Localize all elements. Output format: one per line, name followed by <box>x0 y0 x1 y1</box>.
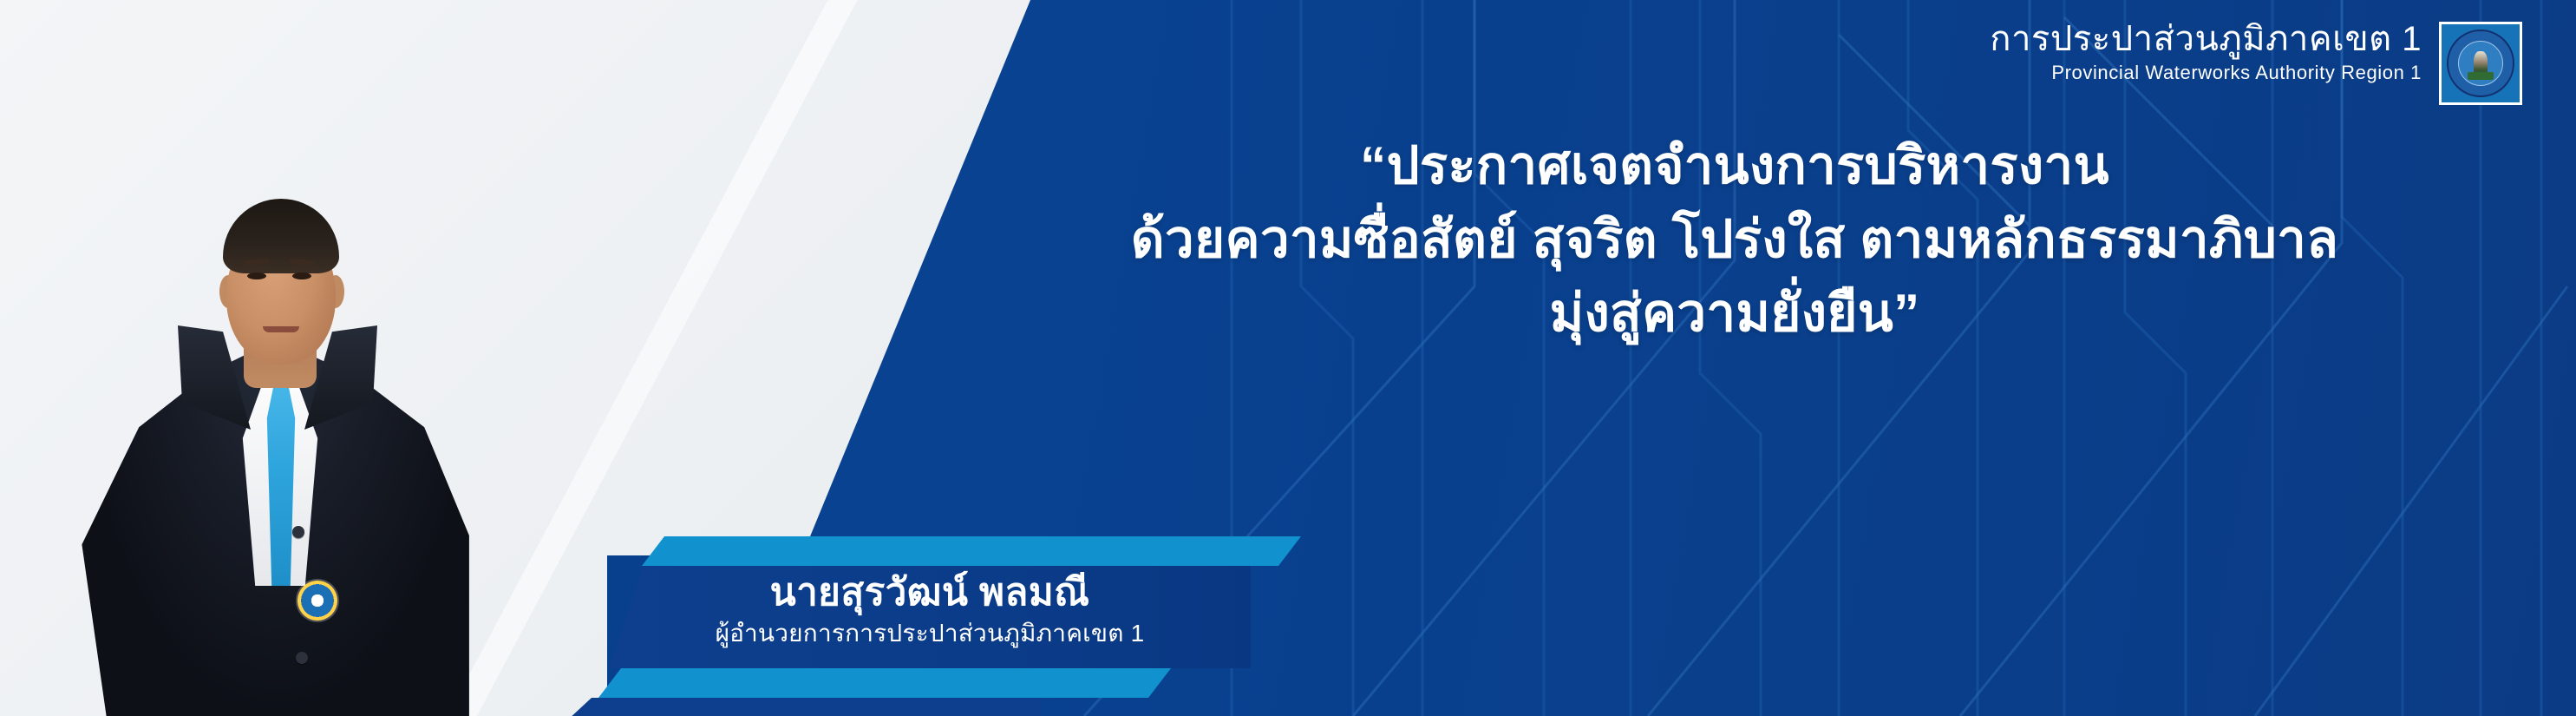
quote-line-3: มุ่งสู่ความยั่งยืน” <box>997 276 2472 350</box>
quote-line-2: ด้วยความซื่อสัตย์ สุจริต โปร่งใส ตามหลัก… <box>997 202 2472 276</box>
director-name: นายสุรวัฒน์ พลมณี <box>609 569 1251 616</box>
hero-banner: การประปาส่วนภูมิภาคเขต 1 Provincial Wate… <box>0 0 2576 716</box>
quote-line-1: “ประกาศเจตจำนงการบริหารงาน <box>997 128 2472 202</box>
organization-name-thai: การประปาส่วนภูมิภาคเขต 1 <box>1990 19 2422 59</box>
banner-text-group: นายสุรวัฒน์ พลมณี ผู้อำนวยการการประปาส่ว… <box>609 569 1251 649</box>
logo-pedestal <box>2468 72 2494 80</box>
banner-tail-band <box>555 698 1041 716</box>
organization-name-block: การประปาส่วนภูมิภาคเขต 1 Provincial Wate… <box>1990 19 2422 86</box>
organization-name-english: Provincial Waterworks Authority Region 1 <box>1990 61 2422 86</box>
portrait-hair <box>223 199 339 273</box>
declaration-quote: “ประกาศเจตจำนงการบริหารงาน ด้วยความซื่อส… <box>997 128 2472 351</box>
portrait-mouth <box>263 326 299 332</box>
director-name-banner: นายสุรวัฒน์ พลมณี ผู้อำนวยการการประปาส่ว… <box>0 536 1388 716</box>
logo-outer-ring <box>2447 30 2514 97</box>
logo-inner-disc <box>2458 41 2503 86</box>
pwa-emblem-logo-icon <box>2439 22 2522 105</box>
director-role: ผู้อำนวยการการประปาส่วนภูมิภาคเขต 1 <box>609 618 1251 649</box>
banner-stripe-bottom <box>598 668 1171 698</box>
banner-stripe-top <box>642 536 1301 566</box>
portrait-eye-left <box>247 273 266 279</box>
portrait-eye-right <box>292 273 311 279</box>
